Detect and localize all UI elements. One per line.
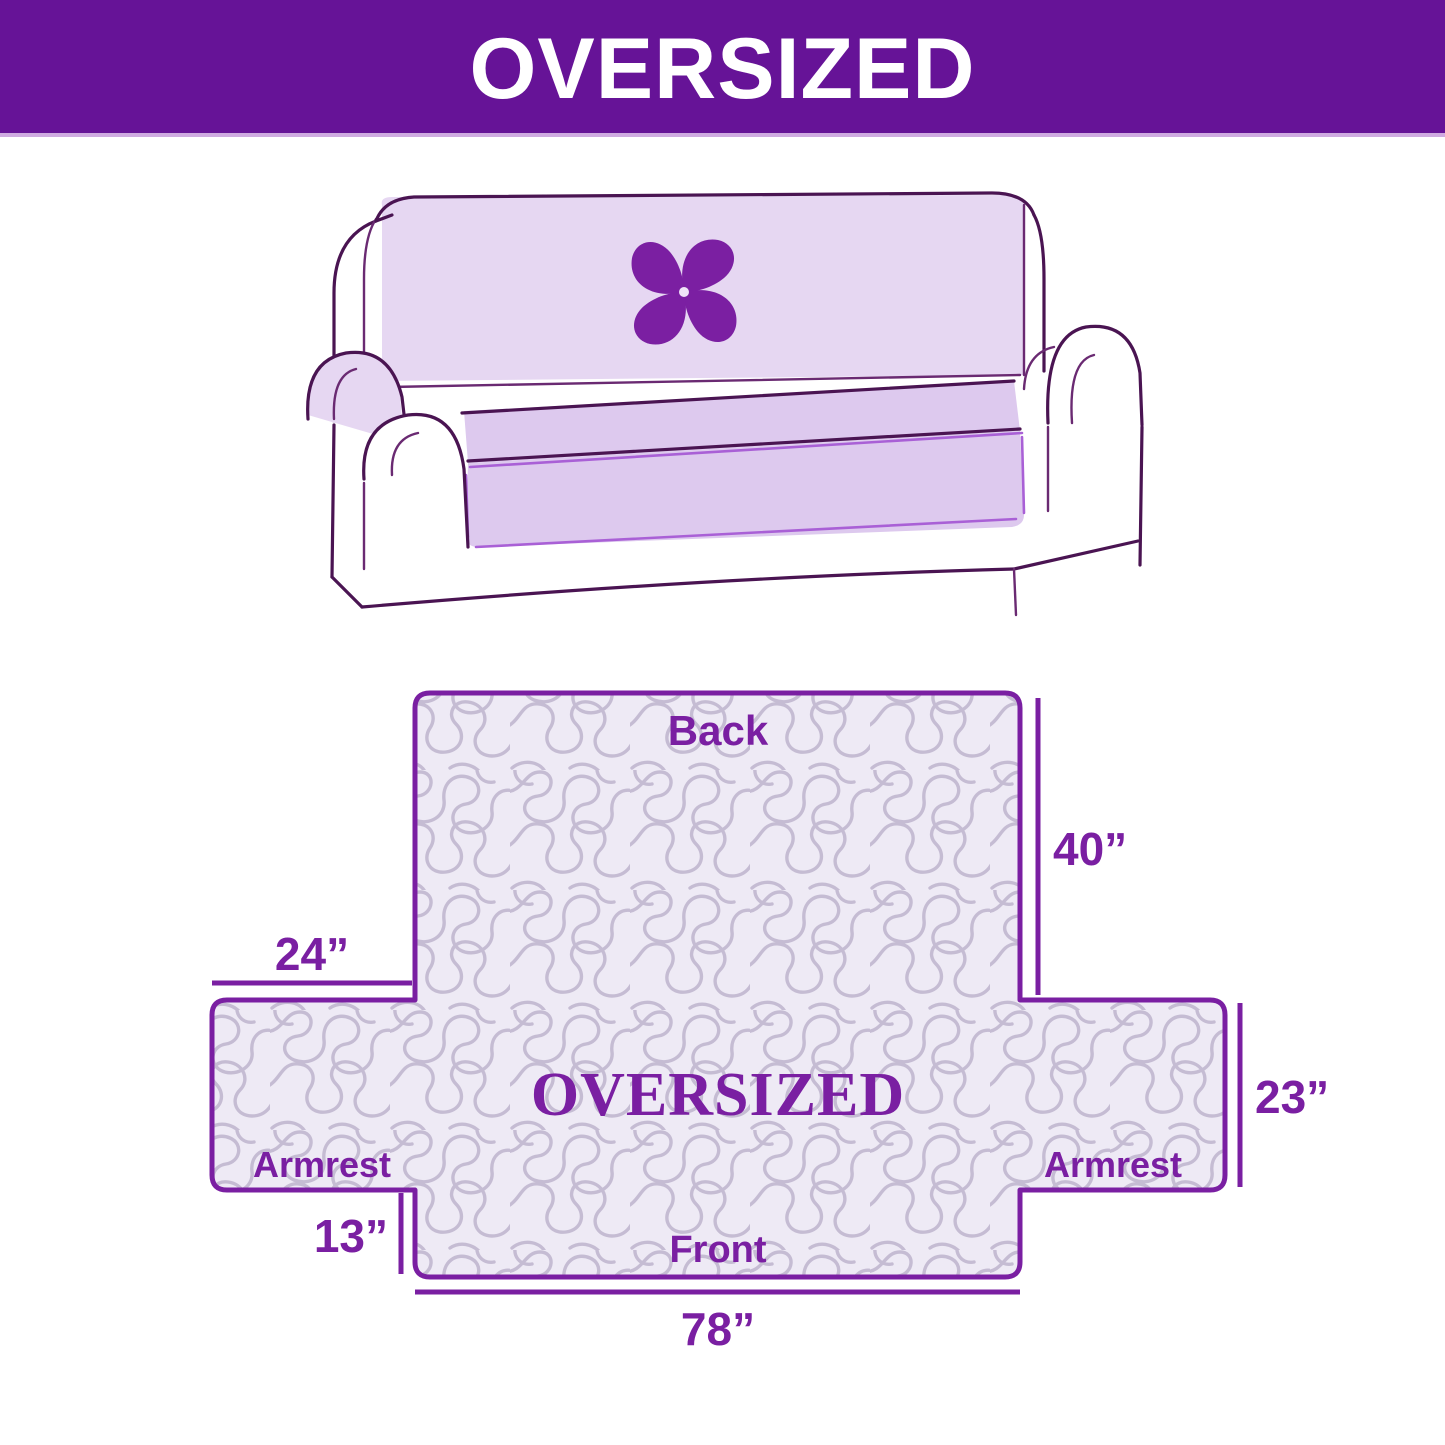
dimension-front-width-value: 78” bbox=[681, 1303, 755, 1355]
dimension-armrest-width-value: 24” bbox=[275, 928, 349, 980]
dimension-front-drop-value: 13” bbox=[314, 1210, 388, 1262]
dimension-back-height-value: 40” bbox=[1053, 823, 1127, 875]
page-title: OVERSIZED bbox=[470, 26, 976, 112]
dimension-armrest-width: 24” bbox=[212, 928, 412, 983]
dimension-back-height: 40” bbox=[1038, 698, 1127, 995]
label-front: Front bbox=[669, 1229, 766, 1271]
label-armrest-right: Armrest bbox=[1044, 1144, 1182, 1185]
sofa-right-side-vertical bbox=[1140, 427, 1142, 565]
dimension-armrest-height-value: 23” bbox=[1255, 1071, 1329, 1123]
slipcover-flat-layout: .panel-outline { fill: url(#quiltPattern… bbox=[150, 650, 1330, 1370]
sofa-left-side-vertical bbox=[332, 425, 334, 577]
sofa-back-right-edge bbox=[1034, 215, 1044, 371]
layout-diagram: .panel-outline { fill: url(#quiltPattern… bbox=[150, 650, 1330, 1370]
label-back: Back bbox=[668, 707, 769, 754]
header-banner: OVERSIZED bbox=[0, 0, 1445, 133]
sofa-left-armfront-fill bbox=[364, 415, 468, 565]
dimension-armrest-height: 23” bbox=[1240, 1003, 1329, 1187]
dimension-front-width: 78” bbox=[415, 1292, 1020, 1355]
label-center-brand: OVERSIZED bbox=[531, 1061, 905, 1129]
sofa-drawing: .so { fill:none; stroke:#4a1452; stroke-… bbox=[272, 175, 1192, 625]
sofa-illustration: .so { fill:none; stroke:#4a1452; stroke-… bbox=[272, 175, 1192, 625]
banner-underline bbox=[0, 133, 1445, 137]
dimension-front-drop: 13” bbox=[314, 1193, 401, 1274]
label-armrest-left: Armrest bbox=[253, 1144, 391, 1185]
